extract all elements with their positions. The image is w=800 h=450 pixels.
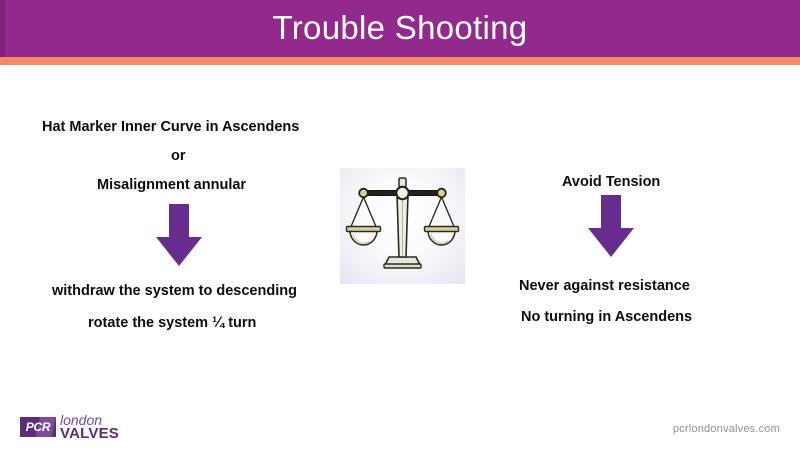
arrow-down-icon xyxy=(156,204,202,266)
right-problem-line-1: Avoid Tension xyxy=(562,175,660,191)
right-solution-line-2: No turning in Ascendens xyxy=(521,310,692,326)
arrow-down-icon xyxy=(588,195,634,257)
left-solution-line-2: rotate the system ¼ turn xyxy=(88,316,256,332)
header-banner: Trouble Shooting xyxy=(0,0,800,57)
logo: PCR london VALVES xyxy=(20,412,150,442)
logo-word-valves: VALVES xyxy=(60,426,119,441)
right-solution-line-1: Never against resistance xyxy=(519,279,690,295)
left-problem-line-3: Misalignment annular xyxy=(97,178,246,194)
arrow-shaft xyxy=(169,204,189,238)
page-title: Trouble Shooting xyxy=(273,11,528,44)
logo-pcr-mark: PCR xyxy=(20,417,56,437)
arrow-shaft xyxy=(601,195,621,229)
arrow-head xyxy=(156,237,202,266)
site-url: pcrlondonvalves.com xyxy=(673,423,780,435)
arrow-head xyxy=(588,228,634,257)
accent-stripe xyxy=(0,57,800,65)
left-problem-line-2: or xyxy=(171,149,186,165)
left-solution-line-1: withdraw the system to descending xyxy=(52,284,297,300)
balance-scale-icon xyxy=(340,168,465,284)
logo-mark-text: PCR xyxy=(20,417,56,437)
slide-body: Hat Marker Inner Curve in Ascendens or M… xyxy=(0,65,800,450)
left-problem-line-1: Hat Marker Inner Curve in Ascendens xyxy=(42,120,299,136)
header-left-edge-accent xyxy=(0,0,5,57)
